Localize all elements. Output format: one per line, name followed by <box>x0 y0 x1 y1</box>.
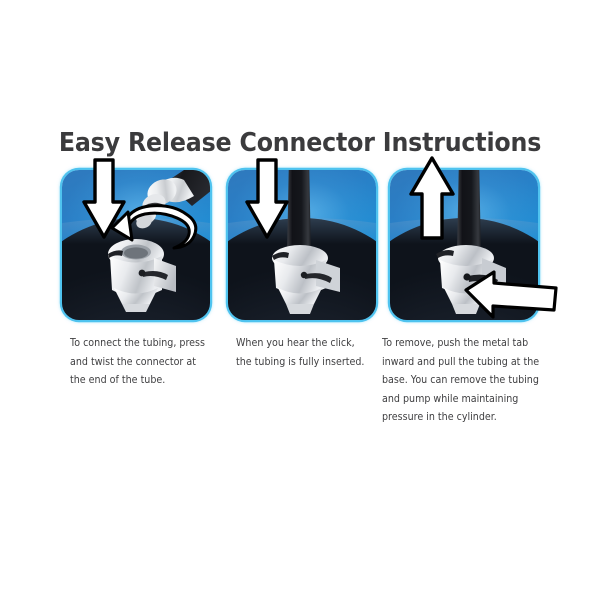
instruction-sheet: Easy Release Connector Instructions <box>0 0 600 600</box>
step-3-caption: To remove, push the metal tab inward and… <box>382 334 549 427</box>
step-2-caption: When you hear the click, the tubing is f… <box>236 334 394 371</box>
step-1-illustration-panel <box>62 170 210 320</box>
push-tab-left-arrow <box>464 270 560 320</box>
page-title: Easy Release Connector Instructions <box>21 128 579 158</box>
press-down-arrow <box>244 158 290 242</box>
step-2-illustration-panel <box>228 170 376 320</box>
seated-connector-graphic <box>254 242 354 320</box>
step-3-illustration-panel <box>390 170 538 320</box>
pull-up-arrow <box>408 156 456 242</box>
twist-curved-arrow <box>106 194 212 256</box>
step-1-caption: To connect the tubing, press and twist t… <box>70 334 228 390</box>
